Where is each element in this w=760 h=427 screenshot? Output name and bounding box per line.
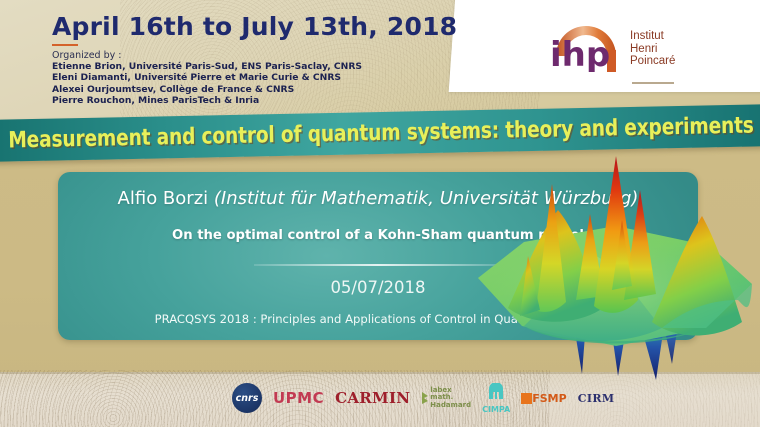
sponsor-logo-labex[interactable]: labexmath.Hadamard: [421, 383, 471, 413]
talk-card: Alfio Borzi (Institut für Mathematik, Un…: [58, 172, 698, 340]
ihp-underline: [632, 82, 674, 84]
ihp-name-line-3: Poincaré: [630, 55, 675, 68]
sponsor-logo-upmc[interactable]: UPMC: [273, 383, 324, 413]
cnrs-logo-mark: cnrs: [232, 383, 262, 413]
organizer-item: Eleni Diamanti, Université Pierre et Mar…: [52, 72, 362, 83]
talk-date: 05/07/2018: [58, 278, 698, 297]
cimpa-logo-text: CIMPA: [482, 406, 510, 414]
talk-card-divider: [254, 264, 502, 266]
organizers-accent-rule: [52, 44, 78, 46]
fsmp-logo-text: FSMP: [532, 392, 566, 405]
ihp-name-block: Institut Henri Poincaré: [630, 30, 675, 68]
svg-text:ihp: ihp: [550, 35, 610, 72]
cimpa-icon: [486, 383, 506, 401]
organizer-item: Pierre Rouchon, Mines ParisTech & Inria: [52, 95, 362, 106]
labex-mark-icon: [421, 390, 430, 406]
event-dates: April 16th to July 13th, 2018: [52, 12, 457, 41]
organizers-list: Etienne Brion, Université Paris-Sud, ENS…: [52, 61, 362, 107]
talk-title: On the optimal control of a Kohn-Sham qu…: [58, 228, 698, 243]
ihp-arch-icon: ihp: [548, 10, 624, 72]
ihp-name-line-2: Henri: [630, 43, 675, 56]
cirm-logo-text: CIRM: [578, 392, 615, 405]
sponsor-logo-cnrs[interactable]: cnrs: [232, 383, 262, 413]
ihp-name-line-1: Institut: [630, 30, 675, 43]
organizer-item: Alexei Ourjoumtsev, Collège de France & …: [52, 84, 362, 95]
talk-speaker-affiliation: (Institut für Mathematik, Universität Wü…: [214, 188, 639, 209]
background-divider-line: [0, 372, 760, 374]
fsmp-mark-icon: [521, 393, 532, 404]
sponsor-logo-cirm[interactable]: CIRM: [578, 383, 615, 413]
ihp-logo: ihp Institut Henri Poincaré: [548, 8, 718, 88]
conference-poster: ihp Institut Henri Poincaré April 16th t…: [0, 0, 760, 427]
organized-by-label: Organized by :: [52, 50, 121, 61]
talk-speaker-line: Alfio Borzi (Institut für Mathematik, Un…: [58, 188, 698, 209]
sponsor-logo-cimpa[interactable]: CIMPA: [482, 383, 510, 413]
sponsor-logo-strip: cnrs UPMC CARMIN labexmath.Hadamard CIMP…: [232, 381, 632, 415]
sponsor-logo-carmin[interactable]: CARMIN: [335, 383, 410, 413]
talk-speaker-name: Alfio Borzi: [118, 188, 214, 209]
cimpa-mark: CIMPA: [482, 383, 510, 414]
organizer-item: Etienne Brion, Université Paris-Sud, ENS…: [52, 61, 362, 72]
sponsor-logo-fsmp[interactable]: FSMP: [521, 383, 566, 413]
labex-logo-text: labexmath.Hadamard: [430, 387, 471, 410]
talk-series: PRACQSYS 2018 : Principles and Applicati…: [58, 312, 698, 326]
